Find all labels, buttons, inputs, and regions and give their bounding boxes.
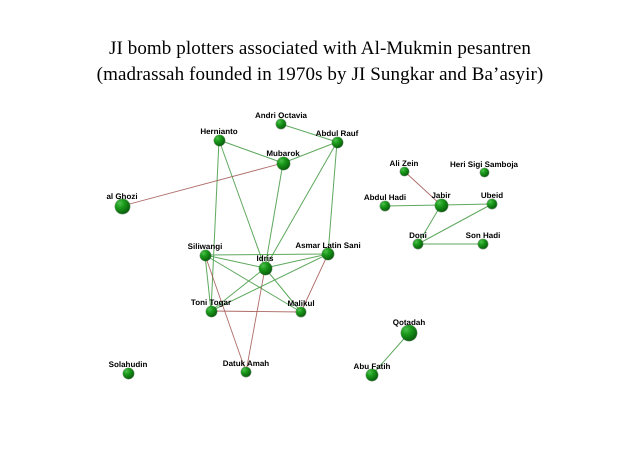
graph-node-label-hernianto: Hernianto — [200, 127, 237, 136]
graph-node-label-son_hadi: Son Hadi — [466, 231, 501, 240]
graph-node-label-ubeid: Ubeid — [481, 191, 503, 200]
graph-node-label-ali_zein: Ali Zein — [390, 159, 419, 168]
graph-edge — [219, 140, 265, 268]
graph-node-label-idris: Idris — [257, 254, 274, 263]
graph-node-label-qotadah: Qotadah — [393, 318, 425, 327]
graph-node-label-mubarok: Mubarok — [266, 149, 299, 158]
graph-node-label-jabir: Jabir — [431, 191, 450, 200]
graph-edge — [441, 204, 492, 205]
graph-node-label-heri_sigi: Heri Sigi Samboja — [450, 160, 518, 169]
graph-node-siliwangi[interactable] — [200, 250, 211, 261]
graph-node-label-toni_togar: Toni Togar — [191, 298, 231, 307]
graph-node-hernianto[interactable] — [214, 135, 225, 146]
graph-edge — [265, 254, 328, 268]
graph-node-jabir[interactable] — [435, 199, 448, 212]
graph-node-datuk_amah[interactable] — [241, 367, 251, 377]
graph-node-qotadah[interactable] — [401, 325, 417, 341]
graph-node-toni_togar[interactable] — [206, 306, 217, 317]
graph-node-label-abdul_rauf: Abdul Rauf — [316, 129, 359, 138]
graph-node-label-abdul_hadi: Abdul Hadi — [364, 193, 406, 202]
graph-node-idris[interactable] — [259, 262, 272, 275]
graph-node-malikul[interactable] — [296, 307, 306, 317]
graph-edge — [246, 268, 265, 372]
graph-edge — [328, 142, 337, 254]
graph-node-mubarok[interactable] — [277, 157, 290, 170]
graph-edge — [122, 163, 283, 206]
graph-node-solahudin[interactable] — [123, 368, 134, 379]
graph-node-label-solahudin: Solahudin — [109, 360, 148, 369]
graph-node-doni[interactable] — [413, 239, 423, 249]
graph-node-label-abu_fatih: Abu Fatih — [354, 362, 391, 371]
graph-node-abdul_rauf[interactable] — [332, 137, 343, 148]
graph-node-son_hadi[interactable] — [478, 239, 488, 249]
graph-node-label-doni: Doni — [409, 231, 427, 240]
graph-node-label-datuk_amah: Datuk Amah — [223, 359, 269, 368]
graph-node-label-siliwangi: Siliwangi — [188, 242, 223, 251]
graph-node-label-andri_octavia: Andri Octavia — [255, 111, 307, 120]
graph-node-ubeid[interactable] — [487, 199, 497, 209]
network-graph — [0, 0, 640, 457]
graph-edge — [385, 205, 441, 206]
graph-node-andri_octavia[interactable] — [276, 119, 286, 129]
graph-node-label-malikul: Malikul — [287, 299, 314, 308]
slide-canvas: JI bomb plotters associated with Al-Mukm… — [0, 0, 640, 457]
graph-node-abdul_hadi[interactable] — [380, 201, 390, 211]
graph-edge — [211, 140, 219, 311]
graph-node-label-al_ghozi: al Ghozi — [106, 192, 137, 201]
graph-node-label-asmar: Asmar Latin Sani — [295, 241, 360, 250]
